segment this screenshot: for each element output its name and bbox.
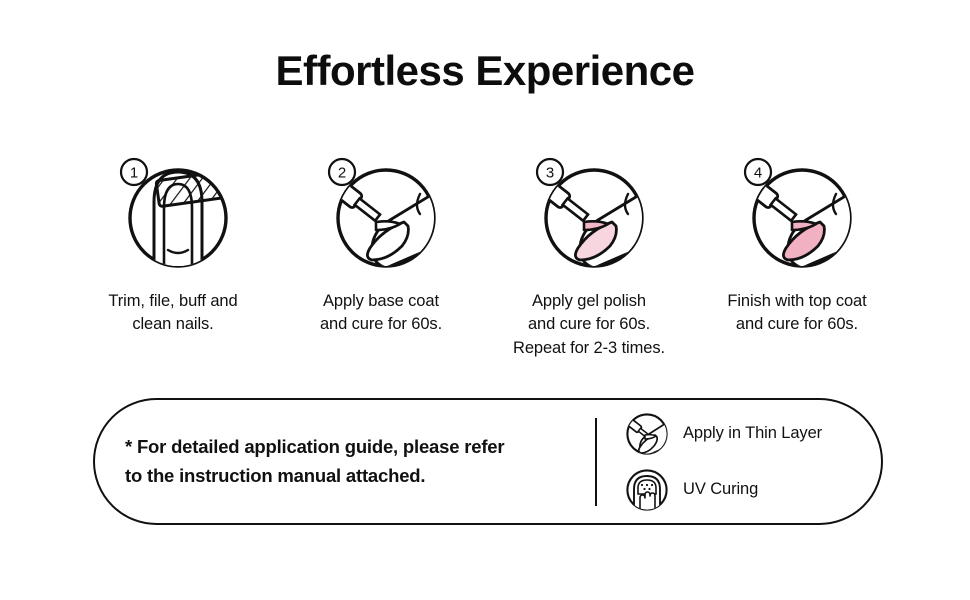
gel-polish-brush-icon: 3 [524,150,654,270]
steps-row: 1 Trim, file, buff and clean nails. [0,150,970,360]
badge-label: Apply in Thin Layer [683,424,822,443]
step-1-illustration: 1 [108,150,238,270]
badge-item: UV Curing [625,468,822,512]
top-coat-brush-icon: 4 [732,150,862,270]
base-coat-brush-icon: 2 [316,150,446,270]
nail-file-icon: 1 [108,150,238,270]
instruction-infographic: Effortless Experience [0,0,970,600]
step-number: 1 [130,165,138,182]
step-item: 3 Apply gel polish and cure for 60s. Rep… [485,150,693,360]
thin-layer-brush-icon [625,412,669,456]
step-item: 1 Trim, file, buff and clean nails. [69,150,277,337]
step-caption: Finish with top coat and cure for 60s. [727,290,866,337]
badge-item: Apply in Thin Layer [625,412,822,456]
step-item: 2 Apply base coat and cure for 60s. [277,150,485,337]
page-title: Effortless Experience [0,48,970,94]
step-number: 4 [754,165,762,182]
step-2-illustration: 2 [316,150,446,270]
step-caption: Apply gel polish and cure for 60s. Repea… [513,290,665,360]
step-3-illustration: 3 [524,150,654,270]
badge-label: UV Curing [683,480,758,499]
step-item: 4 Finish with top coat and cure for 60s. [693,150,901,337]
step-caption: Apply base coat and cure for 60s. [320,290,442,337]
step-4-illustration: 4 [732,150,862,270]
step-number: 3 [546,165,554,182]
uv-lamp-icon [625,468,669,512]
badge-list: Apply in Thin Layer [625,412,822,512]
note-text: * For detailed application guide, please… [95,433,595,490]
vertical-divider [595,418,597,506]
step-caption: Trim, file, buff and clean nails. [108,290,237,337]
note-card: * For detailed application guide, please… [93,398,883,525]
step-number: 2 [338,165,346,182]
